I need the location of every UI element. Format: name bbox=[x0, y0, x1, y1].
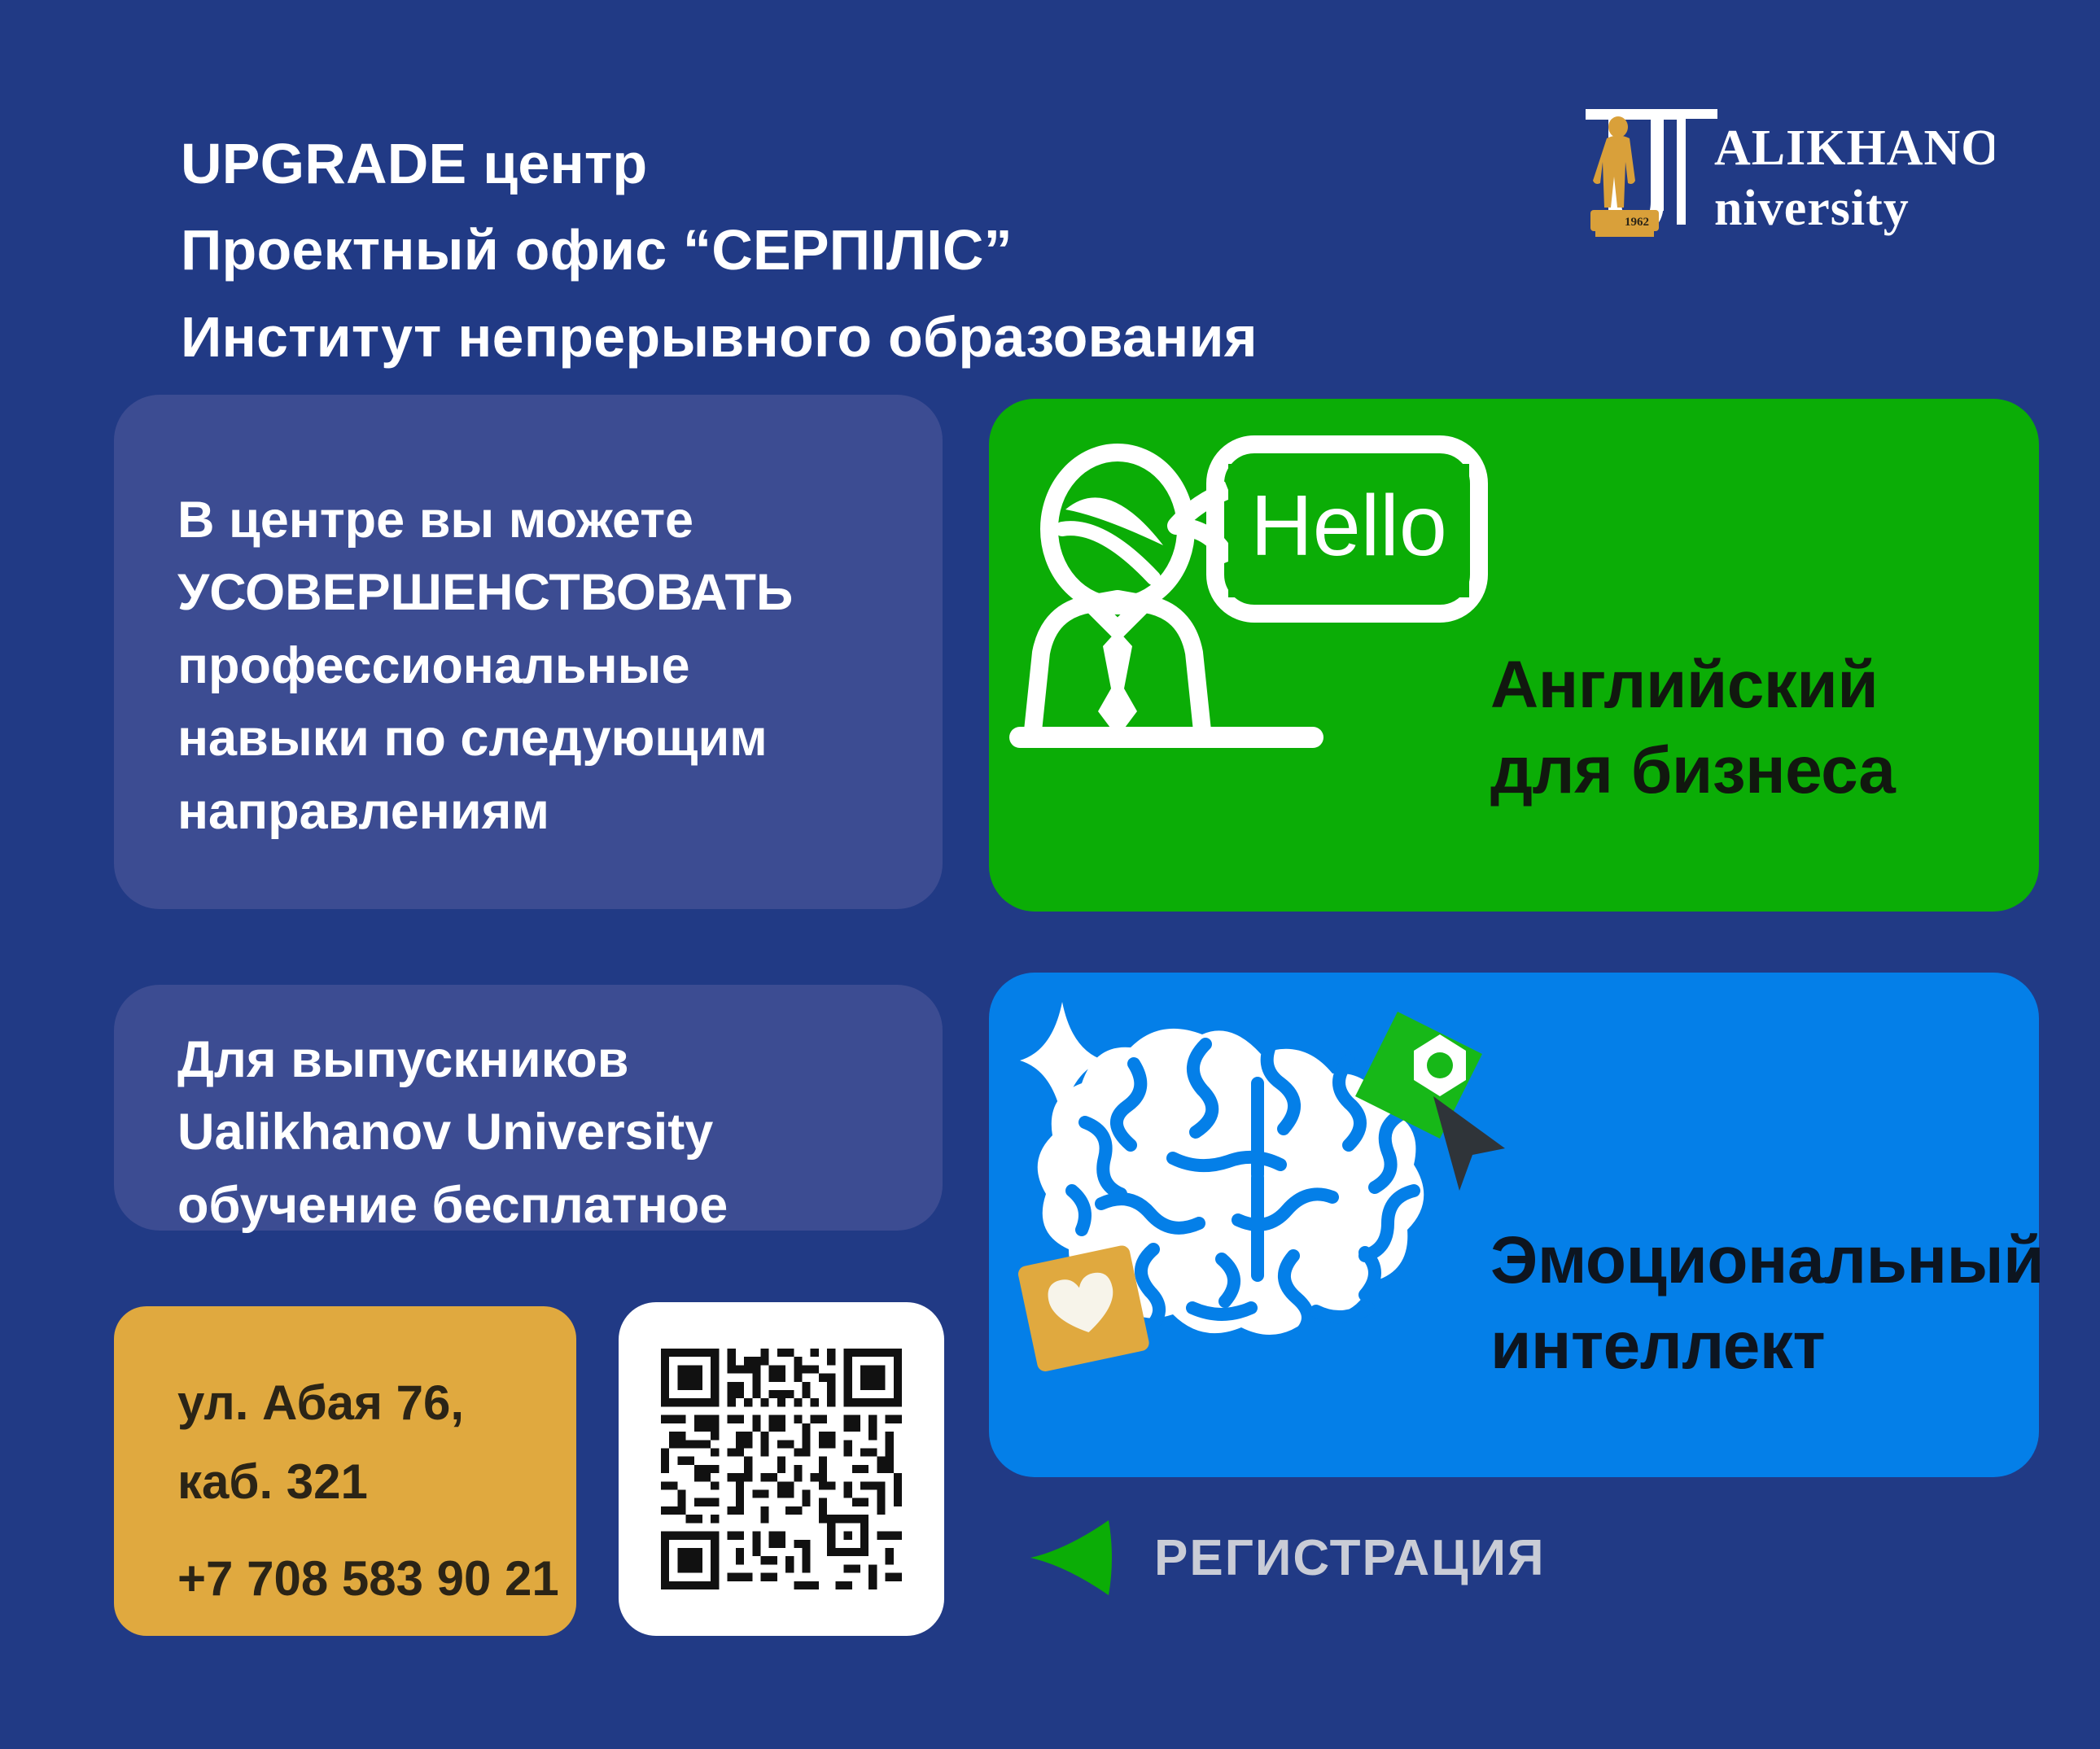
logo-word-top: ALIKHANOV bbox=[1714, 120, 1994, 176]
registration-row[interactable]: РЕГИСТРАЦИЯ bbox=[1024, 1515, 1546, 1600]
english-program-title: Английский для бизнеса bbox=[1490, 643, 2019, 814]
page-title: UPGRADE центр Проектный офис “СЕРПІЛІС” … bbox=[181, 120, 1450, 380]
ei-title-line-2: интеллект bbox=[1490, 1304, 2028, 1389]
contact-text: ул. Абая 76, каб. 321 +7 708 583 90 21 bbox=[177, 1363, 559, 1619]
skills-line-5: направлениям bbox=[177, 776, 934, 848]
page-title-line-1: UPGRADE центр bbox=[181, 120, 1450, 207]
ei-title-line-1: Эмоциональный bbox=[1490, 1218, 2028, 1304]
contact-phone[interactable]: +7 708 583 90 21 bbox=[177, 1539, 559, 1618]
speech-bubble-text: Hello bbox=[1250, 478, 1447, 574]
info-card-skills: В центре вы можете УСОВЕРШЕНСТВОВАТЬ про… bbox=[114, 395, 943, 909]
qr-code-icon[interactable] bbox=[661, 1349, 902, 1589]
triangle-left-icon[interactable] bbox=[1024, 1515, 1115, 1600]
skills-line-1: В центре вы можете bbox=[177, 484, 934, 557]
skills-line-2: УСОВЕРШЕНСТВОВАТЬ bbox=[177, 557, 934, 629]
english-title-line-2: для бизнеса bbox=[1490, 728, 2019, 814]
university-logo: 1962 ALIKHANOV niversity bbox=[1571, 106, 1994, 244]
businessperson-speaking-icon: Hello bbox=[1007, 428, 1495, 770]
logo-founded-year: 1962 bbox=[1625, 216, 1649, 229]
free-tuition-text: Для выпускников Ualikhanov University об… bbox=[177, 1024, 934, 1242]
contact-address-line-2: каб. 321 bbox=[177, 1442, 559, 1521]
ualikhanov-university-logo-icon: 1962 ALIKHANOV niversity bbox=[1571, 106, 1994, 244]
skills-line-3: профессиональные bbox=[177, 630, 934, 702]
info-card-free-tuition: Для выпускников Ualikhanov University об… bbox=[114, 985, 943, 1231]
free-tuition-line-1: Для выпускников bbox=[177, 1024, 934, 1096]
skills-line-4: навыки по следующим bbox=[177, 702, 934, 775]
skills-text: В центре вы можете УСОВЕРШЕНСТВОВАТЬ про… bbox=[177, 484, 934, 848]
brain-icon bbox=[1013, 989, 1518, 1445]
free-tuition-line-3: обучение бесплатное bbox=[177, 1170, 934, 1242]
page-title-line-3: Институт непрерывного образования bbox=[181, 294, 1450, 380]
cursor-icon bbox=[1433, 1096, 1505, 1191]
registration-label[interactable]: РЕГИСТРАЦИЯ bbox=[1154, 1529, 1546, 1587]
logo-word-bottom: niversity bbox=[1714, 181, 1910, 236]
page-title-line-2: Проектный офис “СЕРПІЛІС” bbox=[181, 207, 1450, 293]
program-card-english-for-business[interactable]: Hello Английский для бизнеса bbox=[989, 399, 2039, 912]
qr-card[interactable] bbox=[619, 1302, 944, 1636]
english-title-line-1: Английский bbox=[1490, 643, 2019, 728]
contact-card: ул. Абая 76, каб. 321 +7 708 583 90 21 bbox=[114, 1306, 576, 1636]
ei-program-title: Эмоциональный интеллект bbox=[1490, 1218, 2028, 1389]
heart-card-icon bbox=[1017, 1244, 1150, 1373]
free-tuition-line-2: Ualikhanov University bbox=[177, 1096, 934, 1169]
poster-root: UPGRADE центр Проектный офис “СЕРПІЛІС” … bbox=[0, 0, 2100, 1749]
program-card-emotional-intelligence[interactable]: Эмоциональный интеллект bbox=[989, 973, 2039, 1477]
contact-address-line-1: ул. Абая 76, bbox=[177, 1363, 559, 1442]
